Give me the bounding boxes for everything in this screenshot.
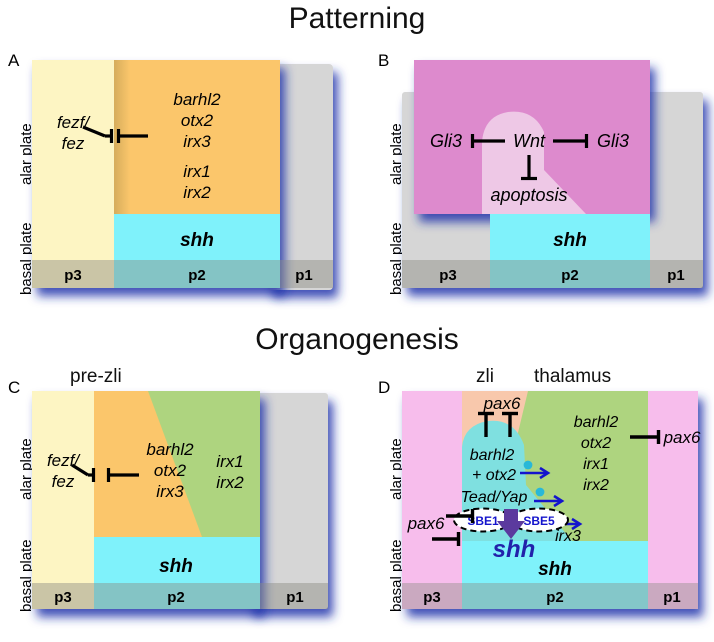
panel-b-svg: Gli3 Wnt Gli3 apoptosis shh p3 p2 p1 [400, 58, 712, 296]
panel-letter-b: B [378, 51, 389, 71]
panel-d-label-shh-basal: shh [538, 559, 572, 580]
panel-b-label-p1: p1 [667, 267, 685, 284]
panel-a-label-otx2: otx2 [181, 111, 214, 130]
panel-a-label-p1: p1 [295, 267, 313, 284]
panel-d-label-otx2: otx2 [581, 435, 611, 452]
panel-d-diagram: pax6 barhl2 + otx2 Tead/Yap [400, 389, 712, 619]
panel-d-label-pax6-right: pax6 [663, 428, 701, 447]
panel-c-diagram: barhl2 otx2 irx3 irx1 irx2 fezf/ fez shh… [30, 389, 342, 619]
panel-c-label-p3: p3 [54, 589, 72, 606]
panel-c-label-irx2: irx2 [216, 473, 244, 492]
panel-b-label-gli3-right: Gli3 [597, 131, 629, 151]
panel-a-diagram: barhl2 otx2 irx3 irx1 irx2 fezf/ fez shh… [30, 58, 342, 296]
panel-d-label-pax6-top: pax6 [483, 394, 521, 413]
panel-c-label-p1: p1 [286, 589, 304, 606]
panel-d-caption-zli: zli [476, 366, 494, 388]
panel-c-label-fez: fez [52, 472, 75, 491]
panel-a-label-fez: fez [62, 134, 85, 153]
panel-b-label-shh: shh [553, 230, 587, 251]
panel-c-label-otx2: otx2 [154, 461, 187, 480]
panel-d-svg: pax6 barhl2 + otx2 Tead/Yap [400, 389, 712, 619]
panel-a-label-p3: p3 [64, 267, 82, 284]
panel-c-label-barhl2: barhl2 [146, 440, 194, 459]
section-title-patterning: Patterning [0, 2, 714, 36]
panel-a-label-shh: shh [180, 230, 214, 251]
panel-b-label-wnt: Wnt [513, 131, 546, 151]
panel-letter-a: A [8, 51, 19, 71]
panel-a-label-irx1: irx1 [183, 162, 210, 181]
panel-a-label-irx3: irx3 [183, 132, 211, 151]
panel-c-label-shh: shh [159, 556, 193, 577]
panel-b-diagram: Gli3 Wnt Gli3 apoptosis shh p3 p2 p1 [400, 58, 712, 296]
panel-c-svg: barhl2 otx2 irx3 irx1 irx2 fezf/ fez shh… [30, 389, 342, 619]
panel-d-label-barhl2: barhl2 [574, 414, 619, 431]
panel-d-label-plus-otx2: + otx2 [472, 467, 516, 484]
panel-d-label-tead-yap: Tead/Yap [461, 489, 528, 506]
panel-d-label-barhl2-zli: barhl2 [470, 447, 515, 464]
panel-c-label-irx1: irx1 [216, 452, 243, 471]
panel-d-label-p3: p3 [423, 589, 441, 606]
panel-a-label-p2: p2 [188, 267, 206, 284]
panel-letter-c: C [8, 378, 20, 398]
panel-d-label-irx3: irx3 [555, 528, 581, 545]
panel-b-label-p2: p2 [561, 267, 579, 284]
panel-d-label-shh-zli: shh [493, 536, 536, 563]
panel-d-label-irx2: irx2 [583, 477, 609, 494]
panel-a-label-irx2: irx2 [183, 183, 211, 202]
panel-c-caption: pre-zli [70, 366, 122, 388]
panel-d-label-p1: p1 [663, 589, 681, 606]
panel-b-label-p3: p3 [439, 267, 457, 284]
panel-b-label-gli3-left: Gli3 [430, 131, 462, 151]
panel-d-label-sbe5: SBE5 [523, 514, 555, 528]
panel-a-svg: barhl2 otx2 irx3 irx1 irx2 fezf/ fez shh… [30, 58, 342, 296]
panel-d-label-irx1: irx1 [583, 456, 609, 473]
panel-c-label-irx3: irx3 [156, 482, 184, 501]
panel-d-label-pax6-left: pax6 [407, 514, 445, 533]
panel-a-label-barhl2: barhl2 [173, 90, 221, 109]
figure-root: Patterning Organogenesis A alar plate ba… [0, 0, 714, 642]
panel-letter-d: D [378, 378, 390, 398]
panel-d-label-p2: p2 [546, 589, 564, 606]
panel-d-caption-thalamus: thalamus [534, 366, 611, 388]
panel-c-label-p2: p2 [167, 589, 185, 606]
panel-b-label-apoptosis: apoptosis [490, 185, 567, 205]
section-title-organogenesis: Organogenesis [0, 323, 714, 357]
